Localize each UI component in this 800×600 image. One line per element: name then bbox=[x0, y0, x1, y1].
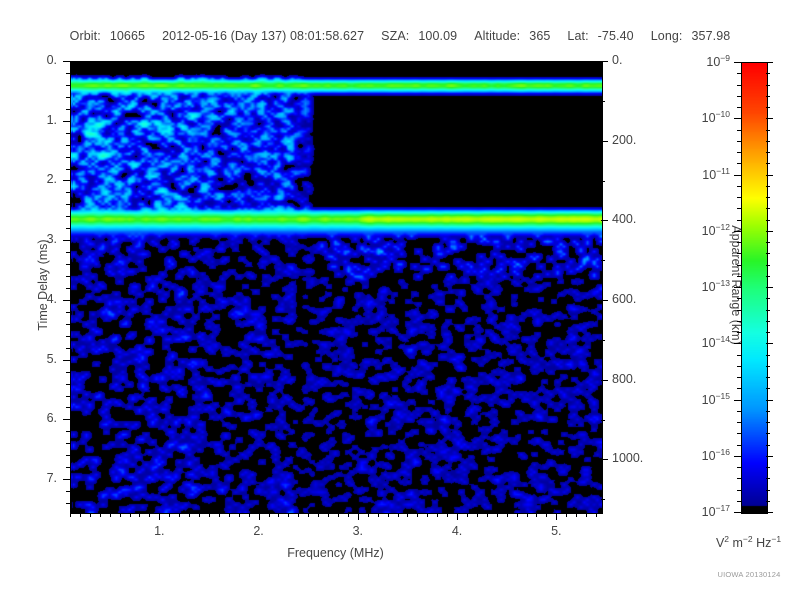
colorbar-tick-minor bbox=[737, 388, 741, 389]
colorbar-tick-major bbox=[766, 118, 773, 119]
colorbar-tick-minor bbox=[737, 107, 741, 108]
y-tick-major bbox=[63, 360, 70, 361]
colorbar-tick-minor bbox=[737, 73, 741, 74]
colorbar-tick-major bbox=[766, 231, 773, 232]
y-tick-minor bbox=[66, 443, 70, 444]
y2-tick-minor bbox=[601, 499, 605, 500]
x-axis-title: Frequency (MHz) bbox=[256, 546, 416, 560]
y-tick-minor bbox=[66, 503, 70, 504]
x-tick-label: 3. bbox=[338, 524, 378, 538]
colorbar-tick-minor bbox=[737, 377, 741, 378]
colorbar-tick-major bbox=[766, 456, 773, 457]
colorbar-tick-minor bbox=[737, 253, 741, 254]
y-tick-minor bbox=[66, 372, 70, 373]
x-tick-label: 2. bbox=[239, 524, 279, 538]
colorbar-tick-label: 10−9 bbox=[678, 53, 730, 69]
colorbar-tick-minor bbox=[766, 85, 770, 86]
x-tick-minor bbox=[100, 513, 101, 517]
colorbar-tick-minor bbox=[766, 130, 770, 131]
datetime-value: 2012-05-16 (Day 137) 08:01:58.627 bbox=[162, 29, 364, 43]
x-tick-minor bbox=[576, 513, 577, 517]
y-tick-minor bbox=[66, 407, 70, 408]
y-tick-minor bbox=[66, 264, 70, 265]
y-tick-minor bbox=[66, 288, 70, 289]
y-tick-minor bbox=[66, 312, 70, 313]
colorbar-tick-minor bbox=[737, 186, 741, 187]
x-tick-minor bbox=[189, 513, 190, 517]
colorbar-tick-major bbox=[766, 175, 773, 176]
y2-tick-major bbox=[601, 459, 608, 460]
colorbar-tick-minor bbox=[766, 366, 770, 367]
x-tick-minor bbox=[507, 513, 508, 517]
y-tick-label: 2. bbox=[17, 172, 57, 186]
colorbar-tick-minor bbox=[737, 411, 741, 412]
y-tick-minor bbox=[66, 204, 70, 205]
x-tick-minor bbox=[169, 513, 170, 517]
x-tick-minor bbox=[467, 513, 468, 517]
x-tick-minor bbox=[586, 513, 587, 517]
x-tick-major bbox=[457, 513, 458, 520]
colorbar-tick-minor bbox=[766, 107, 770, 108]
colorbar-tick-minor bbox=[766, 310, 770, 311]
colorbar-tick-minor bbox=[766, 220, 770, 221]
x-tick-minor bbox=[209, 513, 210, 517]
y-tick-minor bbox=[66, 192, 70, 193]
orbit-value: 10665 bbox=[110, 29, 145, 43]
altitude-value: 365 bbox=[529, 29, 550, 43]
colorbar-tick-minor bbox=[737, 276, 741, 277]
y-tick-minor bbox=[66, 109, 70, 110]
colorbar-tick-major bbox=[734, 287, 741, 288]
colorbar-tick-label: 10−13 bbox=[678, 278, 730, 294]
colorbar-tick-major bbox=[734, 456, 741, 457]
colorbar-tick-minor bbox=[766, 478, 770, 479]
colorbar-tick-minor bbox=[766, 197, 770, 198]
y-tick-minor bbox=[66, 276, 70, 277]
y-tick-major bbox=[63, 419, 70, 420]
x-tick-minor bbox=[90, 513, 91, 517]
colorbar-tick-major bbox=[734, 512, 741, 513]
colorbar-tick-minor bbox=[737, 433, 741, 434]
y-tick-minor bbox=[66, 216, 70, 217]
colorbar-tick-minor bbox=[737, 467, 741, 468]
y-tick-minor bbox=[66, 228, 70, 229]
colorbar-tick-minor bbox=[766, 73, 770, 74]
colorbar-tick-label: 10−11 bbox=[678, 166, 730, 182]
x-tick-minor bbox=[487, 513, 488, 517]
colorbar-tick-minor bbox=[737, 163, 741, 164]
x-tick-minor bbox=[308, 513, 309, 517]
colorbar-tick-minor bbox=[766, 141, 770, 142]
colorbar-tick-minor bbox=[737, 422, 741, 423]
y-tick-minor bbox=[66, 491, 70, 492]
x-tick-minor bbox=[427, 513, 428, 517]
colorbar-tick-minor bbox=[766, 388, 770, 389]
y-tick-minor bbox=[66, 348, 70, 349]
colorbar-tick-major bbox=[766, 287, 773, 288]
colorbar-tick-minor bbox=[766, 186, 770, 187]
colorbar-tick-minor bbox=[766, 490, 770, 491]
colorbar-tick-major bbox=[734, 231, 741, 232]
x-tick-minor bbox=[388, 513, 389, 517]
y2-tick-label: 200. bbox=[612, 133, 668, 147]
x-tick-minor bbox=[288, 513, 289, 517]
figure-header: Orbit:106652012-05-16 (Day 137) 08:01:58… bbox=[0, 29, 800, 43]
colorbar-tick-minor bbox=[737, 321, 741, 322]
colorbar-tick-major bbox=[734, 400, 741, 401]
colorbar-tick-minor bbox=[766, 265, 770, 266]
radargram-heatmap bbox=[71, 62, 602, 513]
colorbar-tick-minor bbox=[737, 298, 741, 299]
colorbar-tick-minor bbox=[766, 276, 770, 277]
colorbar-tick-label: 10−12 bbox=[678, 222, 730, 238]
colorbar-tick-minor bbox=[766, 377, 770, 378]
y-tick-minor bbox=[66, 73, 70, 74]
y2-tick-major bbox=[601, 300, 608, 301]
y2-tick-label: 1000. bbox=[612, 451, 668, 465]
y-tick-label: 1. bbox=[17, 113, 57, 127]
y-tick-minor bbox=[66, 324, 70, 325]
colorbar-tick-major bbox=[766, 512, 773, 513]
x-tick-minor bbox=[120, 513, 121, 517]
y-tick-major bbox=[63, 300, 70, 301]
x-tick-major bbox=[556, 513, 557, 520]
x-tick-label: 5. bbox=[536, 524, 576, 538]
altitude-label: Altitude: bbox=[474, 29, 520, 43]
colorbar-tick-minor bbox=[737, 501, 741, 502]
y-tick-minor bbox=[66, 431, 70, 432]
colorbar-tick-minor bbox=[766, 411, 770, 412]
y-tick-minor bbox=[66, 97, 70, 98]
colorbar-tick-minor bbox=[766, 501, 770, 502]
y-tick-minor bbox=[66, 336, 70, 337]
x-tick-minor bbox=[269, 513, 270, 517]
colorbar-tick-minor bbox=[737, 208, 741, 209]
colorbar-tick-minor bbox=[766, 298, 770, 299]
x-tick-minor bbox=[596, 513, 597, 517]
colorbar-tick-minor bbox=[737, 265, 741, 266]
colorbar-tick-label: 10−15 bbox=[678, 391, 730, 407]
colorbar-tick-minor bbox=[737, 197, 741, 198]
colorbar-tick-label: 10−16 bbox=[678, 447, 730, 463]
colorbar-tick-major bbox=[766, 400, 773, 401]
colorbar-tick-minor bbox=[766, 208, 770, 209]
x-tick-minor bbox=[546, 513, 547, 517]
x-tick-minor bbox=[338, 513, 339, 517]
colorbar-tick-minor bbox=[737, 242, 741, 243]
sza-value: 100.09 bbox=[418, 29, 457, 43]
x-tick-minor bbox=[110, 513, 111, 517]
y-tick-label: 6. bbox=[17, 411, 57, 425]
x-tick-minor bbox=[536, 513, 537, 517]
x-tick-minor bbox=[407, 513, 408, 517]
colorbar-tick-minor bbox=[766, 163, 770, 164]
colorbar-tick-minor bbox=[766, 242, 770, 243]
x-tick-minor bbox=[130, 513, 131, 517]
x-tick-minor bbox=[80, 513, 81, 517]
x-tick-minor bbox=[318, 513, 319, 517]
colorbar-tick-minor bbox=[737, 355, 741, 356]
y-tick-minor bbox=[66, 252, 70, 253]
x-tick-major bbox=[159, 513, 160, 520]
colorbar-tick-major bbox=[766, 343, 773, 344]
y2-tick-label: 400. bbox=[612, 212, 668, 226]
colorbar-tick-minor bbox=[737, 310, 741, 311]
orbit-label: Orbit: bbox=[70, 29, 101, 43]
x-tick-major bbox=[358, 513, 359, 520]
x-tick-minor bbox=[249, 513, 250, 517]
x-tick-minor bbox=[398, 513, 399, 517]
x-tick-label: 4. bbox=[437, 524, 477, 538]
x-tick-label: 1. bbox=[139, 524, 179, 538]
y-tick-minor bbox=[66, 145, 70, 146]
watermark-credit: UIOWA 20130124 bbox=[700, 570, 798, 579]
radargram-plot-area bbox=[70, 61, 603, 514]
y2-tick-minor bbox=[601, 101, 605, 102]
x-tick-minor bbox=[477, 513, 478, 517]
y-tick-major bbox=[63, 180, 70, 181]
colorbar-tick-minor bbox=[766, 152, 770, 153]
colorbar-tick-minor bbox=[737, 130, 741, 131]
colorbar-tick-minor bbox=[737, 332, 741, 333]
y-tick-major bbox=[63, 121, 70, 122]
x-tick-minor bbox=[179, 513, 180, 517]
x-tick-minor bbox=[149, 513, 150, 517]
y2-tick-major bbox=[601, 141, 608, 142]
y-tick-minor bbox=[66, 133, 70, 134]
colorbar-gradient bbox=[742, 63, 767, 513]
x-tick-minor bbox=[328, 513, 329, 517]
colorbar-tick-major bbox=[766, 62, 773, 63]
y-tick-minor bbox=[66, 396, 70, 397]
y2-tick-major bbox=[601, 220, 608, 221]
x-tick-minor bbox=[139, 513, 140, 517]
x-tick-minor bbox=[219, 513, 220, 517]
colorbar-tick-minor bbox=[766, 422, 770, 423]
colorbar-tick-major bbox=[734, 118, 741, 119]
ionogram-figure: Orbit:106652012-05-16 (Day 137) 08:01:58… bbox=[0, 0, 800, 600]
colorbar-tick-minor bbox=[766, 96, 770, 97]
colorbar-tick-major bbox=[734, 62, 741, 63]
x-tick-minor bbox=[447, 513, 448, 517]
colorbar-tick-minor bbox=[737, 445, 741, 446]
colorbar-tick-minor bbox=[766, 253, 770, 254]
y-tick-minor bbox=[66, 157, 70, 158]
colorbar-tick-minor bbox=[766, 321, 770, 322]
colorbar-tick-major bbox=[734, 175, 741, 176]
x-tick-minor bbox=[437, 513, 438, 517]
lat-label: Lat: bbox=[567, 29, 588, 43]
x-tick-minor bbox=[70, 513, 71, 517]
long-value: 357.98 bbox=[692, 29, 731, 43]
y2-tick-label: 600. bbox=[612, 292, 668, 306]
x-tick-minor bbox=[239, 513, 240, 517]
colorbar-tick-minor bbox=[737, 366, 741, 367]
colorbar-tick-major bbox=[734, 343, 741, 344]
y2-tick-minor bbox=[601, 181, 605, 182]
colorbar-tick-minor bbox=[766, 433, 770, 434]
x-tick-minor bbox=[199, 513, 200, 517]
y-axis-title-left: Time Delay (ms) bbox=[36, 210, 50, 360]
y2-tick-major bbox=[601, 61, 608, 62]
y2-tick-minor bbox=[601, 420, 605, 421]
colorbar-tick-minor bbox=[737, 220, 741, 221]
colorbar-tick-minor bbox=[737, 490, 741, 491]
y-tick-minor bbox=[66, 455, 70, 456]
y-tick-label: 7. bbox=[17, 471, 57, 485]
x-tick-minor bbox=[517, 513, 518, 517]
x-tick-minor bbox=[348, 513, 349, 517]
colorbar-units-label: V2 m−2 Hz−1 bbox=[697, 534, 800, 550]
colorbar-tick-minor bbox=[737, 141, 741, 142]
colorbar-tick-minor bbox=[766, 332, 770, 333]
y2-tick-label: 800. bbox=[612, 372, 668, 386]
x-tick-minor bbox=[566, 513, 567, 517]
lat-value: -75.40 bbox=[598, 29, 634, 43]
y2-tick-label: 0. bbox=[612, 53, 668, 67]
y-tick-minor bbox=[66, 169, 70, 170]
colorbar-tick-minor bbox=[737, 85, 741, 86]
x-tick-minor bbox=[378, 513, 379, 517]
y-tick-minor bbox=[66, 85, 70, 86]
colorbar bbox=[741, 62, 768, 514]
long-label: Long: bbox=[651, 29, 683, 43]
sza-label: SZA: bbox=[381, 29, 409, 43]
x-tick-minor bbox=[417, 513, 418, 517]
y-tick-minor bbox=[66, 384, 70, 385]
x-tick-minor bbox=[278, 513, 279, 517]
colorbar-tick-minor bbox=[737, 478, 741, 479]
y-tick-minor bbox=[66, 467, 70, 468]
x-tick-minor bbox=[527, 513, 528, 517]
x-tick-minor bbox=[229, 513, 230, 517]
x-tick-minor bbox=[368, 513, 369, 517]
colorbar-tick-label: 10−10 bbox=[678, 109, 730, 125]
colorbar-tick-minor bbox=[737, 96, 741, 97]
x-tick-minor bbox=[497, 513, 498, 517]
colorbar-tick-minor bbox=[766, 445, 770, 446]
y-tick-label: 0. bbox=[17, 53, 57, 67]
x-tick-minor bbox=[298, 513, 299, 517]
x-tick-major bbox=[259, 513, 260, 520]
colorbar-tick-minor bbox=[737, 152, 741, 153]
y2-tick-minor bbox=[601, 260, 605, 261]
y2-tick-minor bbox=[601, 340, 605, 341]
colorbar-tick-minor bbox=[766, 355, 770, 356]
colorbar-tick-label: 10−14 bbox=[678, 334, 730, 350]
y2-tick-major bbox=[601, 380, 608, 381]
colorbar-tick-minor bbox=[766, 467, 770, 468]
y-tick-major bbox=[63, 240, 70, 241]
y-tick-major bbox=[63, 479, 70, 480]
colorbar-tick-label: 10−17 bbox=[678, 503, 730, 519]
y-tick-major bbox=[63, 61, 70, 62]
